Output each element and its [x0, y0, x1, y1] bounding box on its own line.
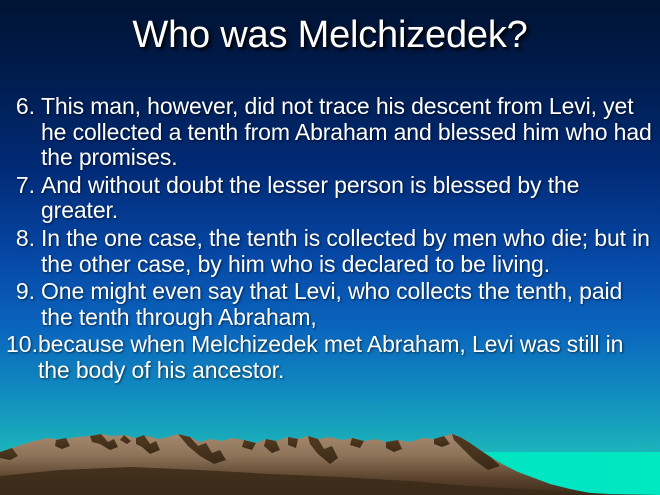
presentation-slide: Who was Melchizedek? 6. This man, howeve…	[0, 0, 660, 495]
page-title: Who was Melchizedek?	[0, 13, 660, 57]
list-item-number: 7.	[6, 173, 35, 199]
list-item-text: because when Melchizedek met Abraham, Le…	[38, 332, 654, 383]
list-item: 6. This man, however, did not trace his …	[6, 94, 654, 171]
list-item-number: 10.	[6, 332, 38, 358]
list-item: 10. because when Melchizedek met Abraham…	[6, 332, 654, 383]
list-item-text: One might even say that Levi, who collec…	[35, 279, 654, 330]
list-item: 8. In the one case, the tenth is collect…	[6, 226, 654, 277]
list-item-number: 6.	[6, 94, 35, 120]
list-item: 7. And without doubt the lesser person i…	[6, 173, 654, 224]
verse-list: 6. This man, however, did not trace his …	[6, 94, 654, 386]
list-item-number: 9.	[6, 279, 35, 305]
list-item-text: This man, however, did not trace his des…	[35, 94, 654, 171]
list-item-text: And without doubt the lesser person is b…	[35, 173, 654, 224]
list-item-text: In the one case, the tenth is collected …	[35, 226, 654, 277]
list-item: 9. One might even say that Levi, who col…	[6, 279, 654, 330]
mountain-range-illustration	[0, 420, 660, 495]
list-item-number: 8.	[6, 226, 35, 252]
